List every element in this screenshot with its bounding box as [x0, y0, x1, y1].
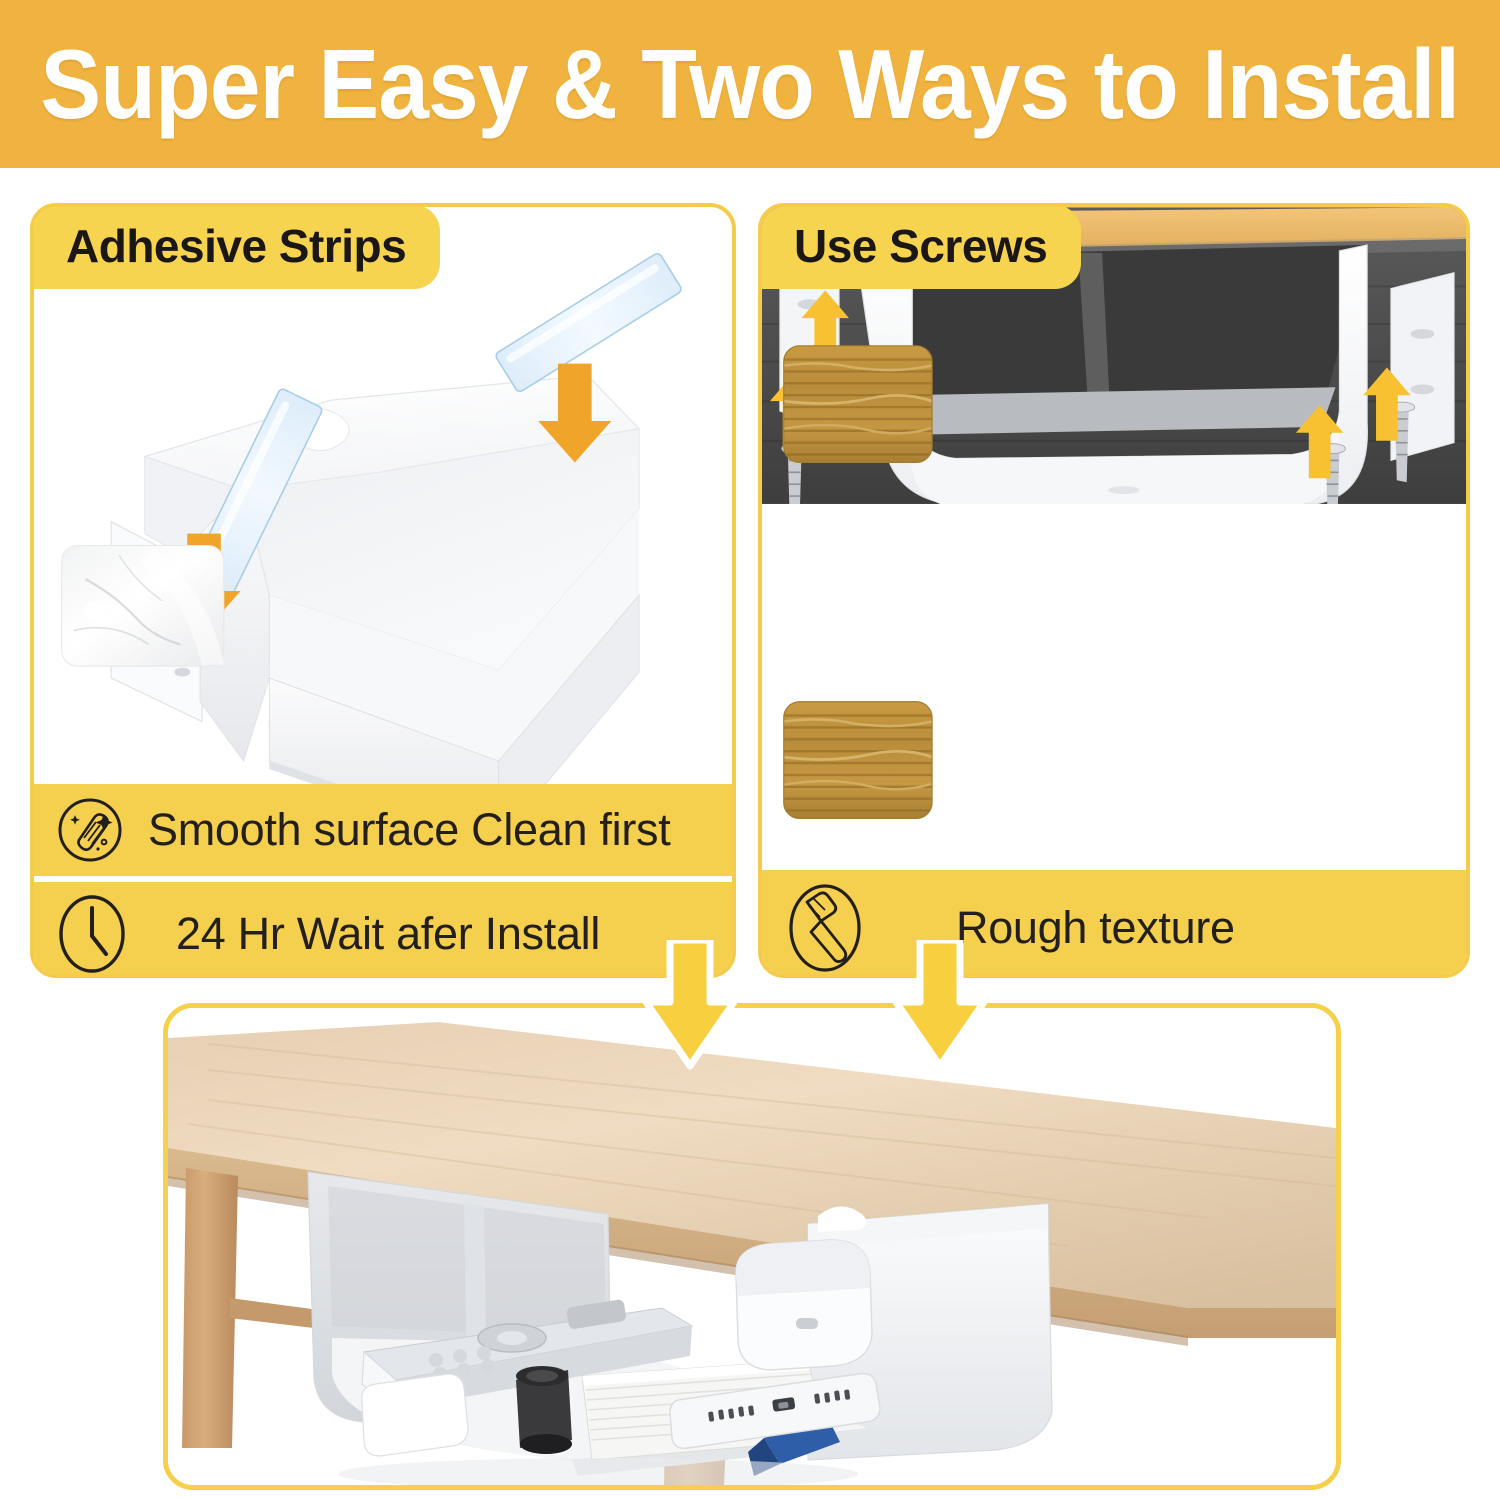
card-use-screws: Use Screws Rough texture — [758, 203, 1470, 978]
page-title: Super Easy & Two Ways to Install — [41, 28, 1460, 141]
desk-scene — [168, 1008, 1336, 1485]
clock-icon — [54, 892, 130, 976]
screwdriver-icon — [782, 880, 868, 976]
connector-arrow-left — [630, 940, 750, 1080]
card-adhesive-strips: Adhesive Strips Smooth surface Clean fir… — [30, 203, 736, 978]
info-row-rough-texture: Rough texture — [760, 870, 1470, 978]
info-row-smooth-surface: Smooth surface Clean first — [32, 784, 736, 876]
info-row-24hr-wait-label: 24 Hr Wait afer Install — [176, 908, 600, 960]
infographic-page: Super Easy & Two Ways to Install — [0, 0, 1500, 1498]
tab-adhesive-strips-label: Adhesive Strips — [66, 219, 406, 273]
installed-under-desk-drawer-photo — [163, 1003, 1341, 1490]
marble-smooth-surface-swatch — [62, 546, 224, 667]
clean-hand-sparkle-icon — [54, 794, 126, 866]
white-block — [362, 1374, 468, 1456]
info-row-smooth-surface-label: Smooth surface Clean first — [148, 804, 670, 856]
header-banner: Super Easy & Two Ways to Install — [0, 0, 1500, 168]
earbuds-case — [736, 1240, 872, 1370]
tab-use-screws-label: Use Screws — [794, 219, 1047, 273]
tab-adhesive-strips[interactable]: Adhesive Strips — [32, 205, 440, 289]
black-cylinder — [516, 1366, 572, 1454]
tray-mounted-under-desk-illustration — [762, 207, 1466, 974]
connector-arrow-right — [880, 940, 1000, 1080]
tab-use-screws[interactable]: Use Screws — [760, 205, 1081, 289]
wood-grain-rough-texture-swatch — [784, 346, 932, 463]
